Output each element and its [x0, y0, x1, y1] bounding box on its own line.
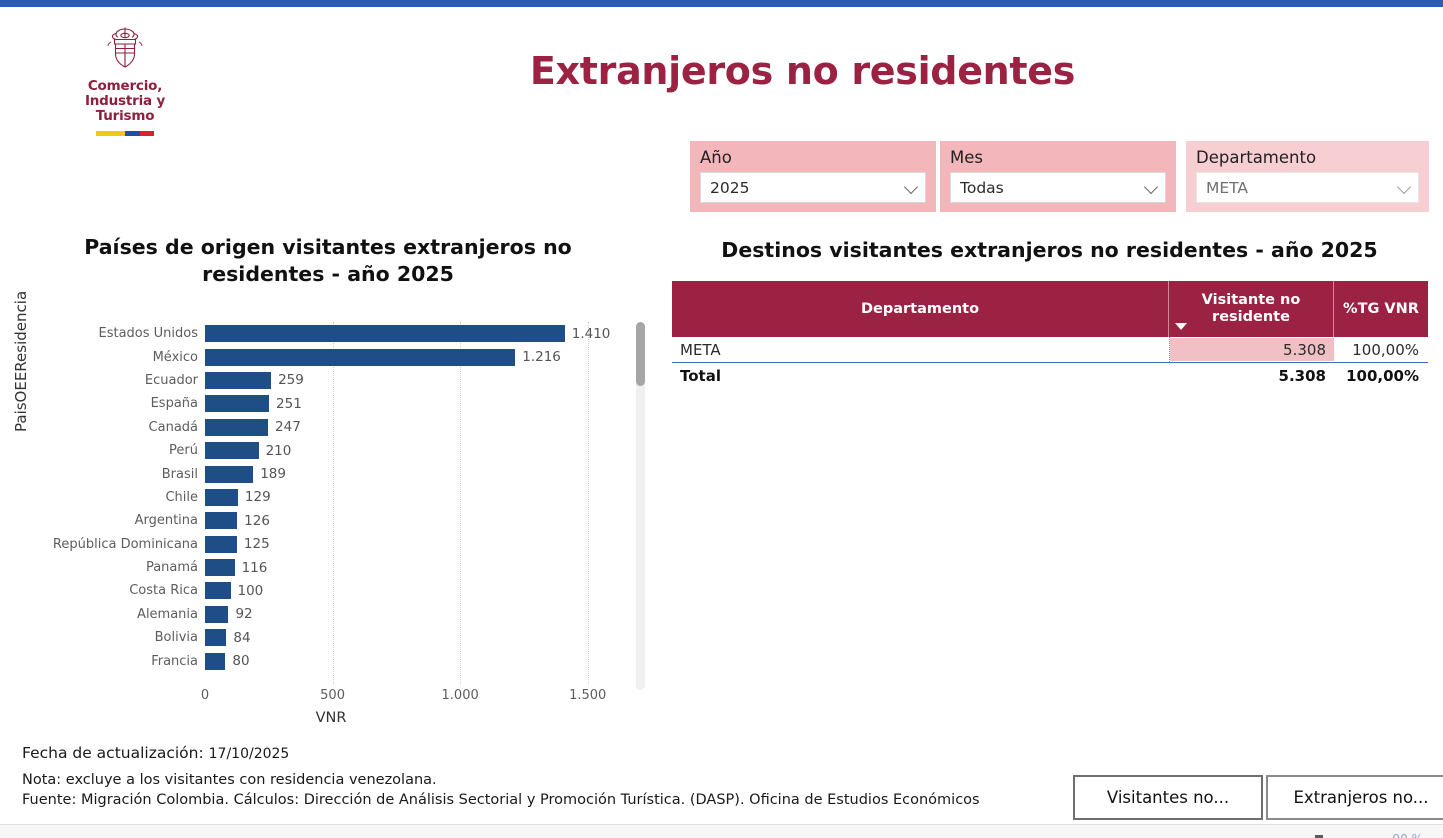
table-total-porcentaje: 100,00% [1334, 367, 1428, 385]
table-title: Destinos visitantes extranjeros no resid… [672, 238, 1427, 262]
bar-chart-y-axis-title: PaisOEEResidencia [12, 291, 30, 432]
table-cell-departamento: META [672, 341, 1169, 359]
logo-line-2: Industria y Turismo [55, 94, 195, 124]
bar-chart-row[interactable]: Argentina126 [36, 509, 626, 532]
status-bar: 90 % [0, 824, 1443, 838]
x-axis-tick-label: 1.500 [569, 688, 606, 703]
chart-scrollbar[interactable] [636, 322, 645, 690]
bar-value-label: 92 [235, 606, 252, 622]
bar[interactable] [205, 653, 225, 670]
bar[interactable] [205, 466, 253, 483]
bar-category-label: Francia [36, 654, 205, 669]
table-col-visitante-label: Visitante no residente [1169, 292, 1333, 326]
bar[interactable] [205, 512, 237, 529]
logo-line-1: Comercio, [55, 79, 195, 94]
x-axis-tick-label: 500 [320, 688, 345, 703]
bar-chart-row[interactable]: Canadá247 [36, 416, 626, 439]
table-total-visitante: 5.308 [1169, 363, 1334, 389]
slicer-ano: Año 2025 [690, 141, 936, 212]
footer-update-line: Fecha de actualización: 17/10/2025 [22, 744, 1072, 762]
bar-value-label: 1.410 [572, 326, 611, 342]
bar-chart-row[interactable]: México1.216 [36, 345, 626, 368]
slicer-mes: Mes Todas [940, 141, 1176, 212]
table-col-departamento[interactable]: Departamento [672, 281, 1169, 337]
bar[interactable] [205, 582, 231, 599]
table-total-row: Total 5.308 100,00% [672, 363, 1428, 389]
bar-chart-row[interactable]: España251 [36, 392, 626, 415]
bar-category-label: Estados Unidos [36, 326, 205, 341]
status-marker-icon [1315, 835, 1323, 838]
bar-value-label: 1.216 [522, 349, 561, 365]
bar-chart-title: Países de origen visitantes extranjeros … [38, 234, 618, 288]
bar-chart-rows: Estados Unidos1.410México1.216Ecuador259… [36, 322, 626, 673]
x-axis-tick-label: 0 [201, 688, 209, 703]
report-page: Comercio, Industria y Turismo Extranjero… [0, 0, 1443, 838]
bar-category-label: Perú [36, 443, 205, 458]
bar-category-label: Ecuador [36, 373, 205, 388]
colombia-flag-bar [96, 131, 154, 136]
browser-top-strip [0, 0, 1443, 7]
tab-extranjeros-no[interactable]: Extranjeros no... [1266, 775, 1443, 820]
destinations-table: Departamento Visitante no residente %TG … [672, 281, 1428, 389]
table-cell-visitante-value: 5.308 [1283, 341, 1326, 359]
slicer-mes-dropdown[interactable]: Todas [950, 172, 1166, 203]
bar-category-label: España [36, 396, 205, 411]
bar-value-label: 259 [278, 372, 304, 388]
bar-chart-row[interactable]: República Dominicana125 [36, 533, 626, 556]
table-total-label: Total [672, 367, 1169, 385]
bar-value-label: 189 [260, 466, 286, 482]
slicer-departamento-value: META [1206, 179, 1248, 197]
bar-chart-x-axis: 05001.0001.500 [36, 688, 626, 708]
bar-category-label: Chile [36, 490, 205, 505]
bar[interactable] [205, 442, 259, 459]
bar[interactable] [205, 489, 238, 506]
bar-chart-row[interactable]: Estados Unidos1.410 [36, 322, 626, 345]
bar-value-label: 251 [276, 396, 302, 412]
slicer-departamento: Departamento META [1186, 141, 1429, 212]
bar-value-label: 116 [242, 560, 268, 576]
bar-chart-row[interactable]: Perú210 [36, 439, 626, 462]
bar-category-label: Brasil [36, 467, 205, 482]
slicer-ano-label: Año [700, 147, 926, 169]
footer: Fecha de actualización: 17/10/2025 Nota:… [22, 744, 1072, 810]
bar-chart-row[interactable]: Francia80 [36, 649, 626, 672]
bar-chart-row[interactable]: Bolivia84 [36, 626, 626, 649]
table-row[interactable]: META 5.308 100,00% [672, 337, 1428, 363]
bar[interactable] [205, 372, 271, 389]
slicer-ano-dropdown[interactable]: 2025 [700, 172, 926, 203]
bar-chart-plot-area: Estados Unidos1.410México1.216Ecuador259… [36, 322, 626, 684]
table-cell-porcentaje: 100,00% [1334, 341, 1428, 359]
bar-value-label: 125 [244, 536, 270, 552]
bar-chart-row[interactable]: Alemania92 [36, 603, 626, 626]
bar-category-label: Bolivia [36, 630, 205, 645]
slicer-ano-value: 2025 [710, 179, 749, 197]
bar-value-label: 210 [266, 443, 292, 459]
colombia-coat-of-arms-icon [102, 25, 148, 75]
page-title: Extranjeros no residentes [400, 49, 1205, 93]
slicer-mes-value: Todas [960, 179, 1004, 197]
chevron-down-icon [904, 184, 917, 192]
ministry-logo: Comercio, Industria y Turismo [55, 25, 195, 136]
slicer-mes-label: Mes [950, 147, 1166, 169]
footer-note: Nota: excluye a los visitantes con resid… [22, 771, 1072, 790]
sort-descending-icon [1175, 323, 1187, 330]
bar-value-label: 100 [238, 583, 264, 599]
bar-value-label: 129 [245, 489, 271, 505]
table-col-visitante-no-residente[interactable]: Visitante no residente [1169, 281, 1334, 337]
bar-category-label: México [36, 350, 205, 365]
slicer-departamento-dropdown[interactable]: META [1196, 172, 1419, 203]
bar-chart-row[interactable]: Panamá116 [36, 556, 626, 579]
bar-category-label: Costa Rica [36, 583, 205, 598]
bar[interactable] [205, 629, 226, 646]
bar-category-label: Canadá [36, 420, 205, 435]
table-header-row: Departamento Visitante no residente %TG … [672, 281, 1428, 337]
report-tabs: Visitantes no... Extranjeros no... [1073, 775, 1443, 820]
bar-category-label: República Dominicana [36, 537, 205, 552]
bar-value-label: 84 [233, 630, 250, 646]
bar-chart-row[interactable]: Chile129 [36, 486, 626, 509]
tab-visitantes-no[interactable]: Visitantes no... [1073, 775, 1263, 820]
footer-source: Fuente: Migración Colombia. Cálculos: Di… [22, 791, 1072, 810]
bar-chart-x-axis-title: VNR [36, 710, 626, 726]
footer-update-date: 17/10/2025 [209, 746, 290, 762]
table-col-porcentaje[interactable]: %TG VNR [1334, 281, 1428, 337]
bar[interactable] [205, 606, 228, 623]
bar-value-label: 126 [244, 513, 270, 529]
table-cell-visitante: 5.308 [1169, 337, 1334, 362]
chevron-down-icon [1144, 184, 1157, 192]
bar-category-label: Panamá [36, 560, 205, 575]
slicer-departamento-label: Departamento [1196, 147, 1419, 169]
x-axis-tick-label: 1.000 [442, 688, 479, 703]
bar-value-label: 247 [275, 419, 301, 435]
bar[interactable] [205, 349, 515, 366]
bar[interactable] [205, 536, 237, 553]
chart-scrollbar-thumb[interactable] [636, 322, 645, 386]
bar[interactable] [205, 419, 268, 436]
bar-category-label: Alemania [36, 607, 205, 622]
bar[interactable] [205, 325, 565, 342]
bar[interactable] [205, 559, 235, 576]
bar-chart-row[interactable]: Costa Rica100 [36, 579, 626, 602]
chevron-down-icon [1397, 184, 1410, 192]
bar-value-label: 80 [232, 653, 249, 669]
footer-update-label: Fecha de actualización: [22, 744, 204, 762]
bar[interactable] [205, 395, 269, 412]
zoom-level-label: 90 % [1393, 834, 1424, 838]
bar-chart-row[interactable]: Brasil189 [36, 462, 626, 485]
bar-category-label: Argentina [36, 513, 205, 528]
bar-chart-row[interactable]: Ecuador259 [36, 369, 626, 392]
